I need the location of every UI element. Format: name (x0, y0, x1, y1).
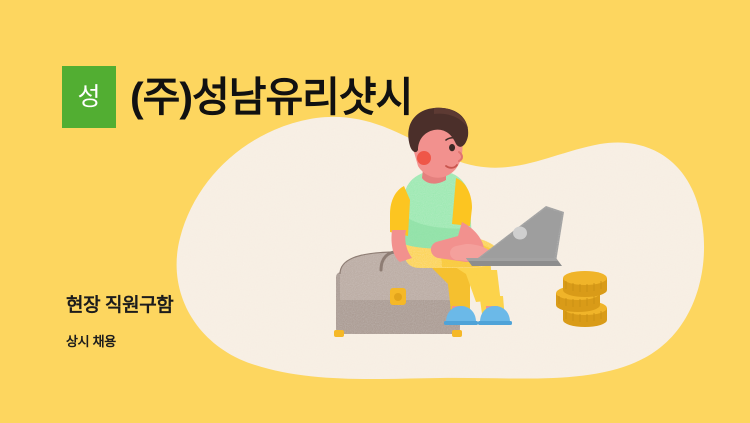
sleeve-left (390, 186, 410, 236)
logo-badge-text: 성 (77, 85, 100, 110)
blush (417, 151, 431, 165)
recruitment-copy: 현장 직원구함 상시 채용 (66, 296, 173, 348)
company-title: (주)성남유리샷시 (130, 77, 412, 118)
job-posting-banner: 성 (주)성남유리샷시 현장 직원구함 상시 채용 (0, 0, 750, 423)
subline-text: 상시 채용 (66, 335, 173, 348)
coin-stack-icon (556, 271, 607, 327)
company-logo-badge: 성 (62, 66, 116, 128)
laptop-logo (513, 227, 527, 240)
head (408, 108, 468, 178)
laptop-icon (466, 206, 564, 266)
illustration-man-with-laptop (0, 0, 750, 423)
banner-header: 성 (주)성남유리샷시 (62, 66, 412, 128)
headline-text: 현장 직원구함 (66, 296, 173, 315)
